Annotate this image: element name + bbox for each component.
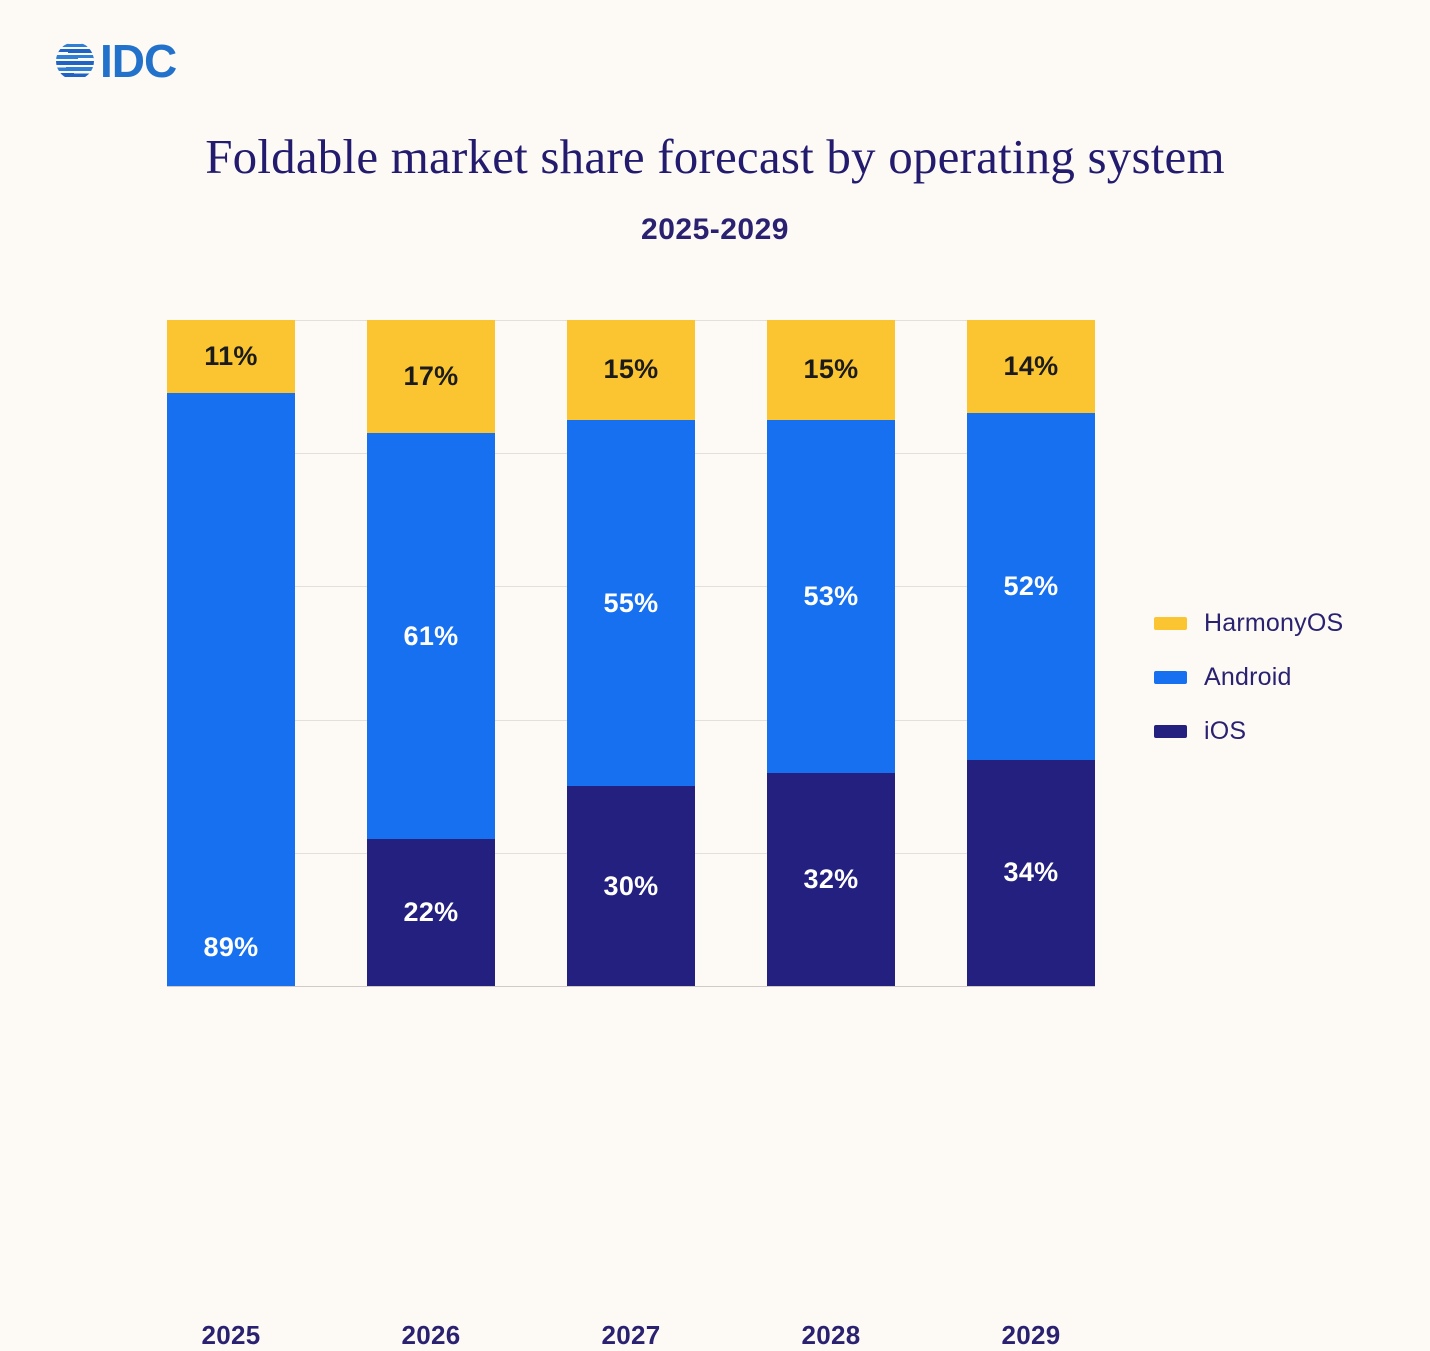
bar-segment-ios-2026[interactable]: 22% — [367, 839, 495, 986]
globe-icon — [52, 38, 98, 84]
bar-value-label: 17% — [404, 361, 459, 392]
bar-segment-ios-2029[interactable]: 34% — [967, 760, 1095, 986]
x-axis-tick-label: 2029 — [967, 1320, 1095, 1351]
legend-item-ios[interactable]: iOS — [1154, 704, 1343, 758]
bar-group-2027[interactable]: 30%55%15% — [567, 320, 695, 986]
x-axis-tick-label: 2028 — [767, 1320, 895, 1351]
bar-segment-ios-2027[interactable]: 30% — [567, 786, 695, 986]
page-title: Foldable market share forecast by operat… — [0, 128, 1430, 185]
legend-swatch-icon — [1154, 725, 1187, 738]
bar-group-2026[interactable]: 22%61%17% — [367, 320, 495, 986]
bar-value-label: 11% — [204, 341, 257, 372]
bar-value-label: 53% — [804, 581, 859, 612]
bar-group-2029[interactable]: 34%52%14% — [967, 320, 1095, 986]
bar-value-label: 55% — [604, 588, 659, 619]
legend-swatch-icon — [1154, 671, 1187, 684]
bar-segment-harmonyos-2029[interactable]: 14% — [967, 320, 1095, 413]
bar-segment-android-2026[interactable]: 61% — [367, 433, 495, 839]
legend-swatch-icon — [1154, 617, 1187, 630]
bar-value-label: 30% — [604, 871, 659, 902]
bar-segment-android-2029[interactable]: 52% — [967, 413, 1095, 759]
x-axis-tick-label: 2027 — [567, 1320, 695, 1351]
bar-group-2025[interactable]: 89%11% — [167, 320, 295, 986]
page-subtitle: 2025-2029 — [0, 213, 1430, 247]
idc-logo: IDC — [52, 38, 176, 84]
bar-segment-android-2027[interactable]: 55% — [567, 420, 695, 786]
x-axis-tick-label: 2025 — [167, 1320, 295, 1351]
bar-segment-android-2028[interactable]: 53% — [767, 420, 895, 773]
legend-item-harmonyos[interactable]: HarmonyOS — [1154, 596, 1343, 650]
bar-value-label: 14% — [1004, 351, 1059, 382]
bar-segment-harmonyos-2025[interactable]: 11% — [167, 320, 295, 393]
bar-segment-ios-2028[interactable]: 32% — [767, 773, 895, 986]
legend-label: HarmonyOS — [1204, 609, 1343, 638]
legend-item-android[interactable]: Android — [1154, 650, 1343, 704]
bar-value-label: 22% — [404, 897, 459, 928]
x-axis-tick-label: 2026 — [367, 1320, 495, 1351]
bar-value-label: 15% — [804, 354, 859, 385]
bar-segment-harmonyos-2028[interactable]: 15% — [767, 320, 895, 420]
x-axis-line — [167, 986, 1095, 987]
bar-value-label: 52% — [1004, 571, 1059, 602]
chart-plot-area: 0%20%40%60%80%100% 89%11%22%61%17%30%55%… — [167, 320, 1095, 986]
bar-value-label: 89% — [204, 932, 259, 963]
logo-wordmark: IDC — [100, 38, 176, 84]
bar-segment-harmonyos-2027[interactable]: 15% — [567, 320, 695, 420]
bar-value-label: 61% — [404, 621, 459, 652]
chart-legend: HarmonyOSAndroidiOS — [1154, 596, 1343, 758]
bar-group-2028[interactable]: 32%53%15% — [767, 320, 895, 986]
bar-value-label: 15% — [604, 354, 659, 385]
bar-segment-android-2025[interactable]: 89% — [167, 393, 295, 986]
bar-segment-harmonyos-2026[interactable]: 17% — [367, 320, 495, 433]
legend-label: Android — [1204, 663, 1292, 692]
bar-value-label: 34% — [1004, 857, 1059, 888]
legend-label: iOS — [1204, 717, 1246, 746]
bar-value-label: 32% — [804, 864, 859, 895]
